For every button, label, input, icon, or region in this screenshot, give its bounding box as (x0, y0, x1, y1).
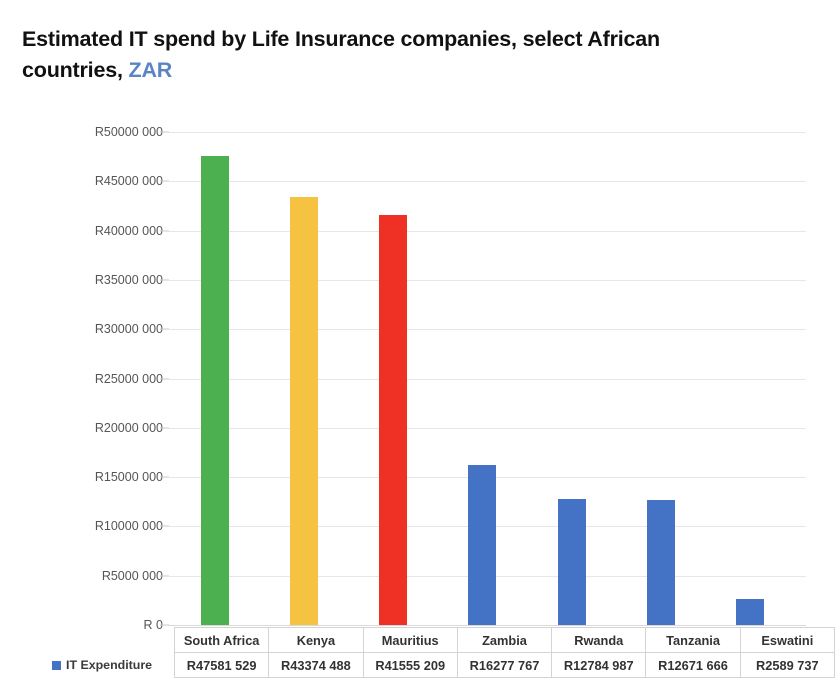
bar-slot (527, 132, 616, 625)
y-axis-tick-label: R50000 000 (13, 125, 163, 139)
table-value-cell: R41555 209 (363, 653, 457, 678)
table-header-cell: Kenya (269, 628, 363, 653)
gridline (168, 625, 806, 626)
bar-slot (170, 132, 259, 625)
y-axis-tick-label: R35000 000 (13, 273, 163, 287)
table-header-cell: Mauritius (363, 628, 457, 653)
bar-kenya[interactable] (290, 197, 318, 625)
bar-slot (349, 132, 438, 625)
table-value-cell: R2589 737 (740, 653, 834, 678)
table-value-cell: R47581 529 (175, 653, 269, 678)
data-table: South AfricaKenyaMauritiusZambiaRwandaTa… (46, 627, 835, 678)
table-header-cell: Zambia (457, 628, 551, 653)
bar-south-africa[interactable] (201, 156, 229, 625)
table-row-values: IT Expenditure R47581 529R43374 488R4155… (46, 653, 834, 678)
y-axis-tick-label: R30000 000 (13, 322, 163, 336)
table-header-cell: Eswatini (740, 628, 834, 653)
bar-chart: R50000 000R45000 000R40000 000R35000 000… (0, 0, 840, 684)
y-axis-tick-label: R25000 000 (13, 372, 163, 386)
y-axis-tick-label: R5000 000 (13, 569, 163, 583)
square-marker-icon (52, 661, 61, 670)
legend-item-it-expenditure: IT Expenditure (46, 653, 175, 678)
table-value-cell: R12671 666 (646, 653, 740, 678)
y-axis-tick-label: R40000 000 (13, 224, 163, 238)
bar-slot (706, 132, 795, 625)
bar-slot (438, 132, 527, 625)
table-value-cell: R12784 987 (552, 653, 646, 678)
bar-slot (259, 132, 348, 625)
legend-label: IT Expenditure (66, 658, 152, 672)
table-value-cell: R43374 488 (269, 653, 363, 678)
bar-tanzania[interactable] (647, 500, 675, 625)
y-axis-tick-label: R20000 000 (13, 421, 163, 435)
bar-mauritius[interactable] (379, 215, 407, 625)
bar-eswatini[interactable] (736, 599, 764, 625)
table-header-cell: South Africa (175, 628, 269, 653)
bar-zambia[interactable] (468, 465, 496, 625)
table-corner-cell (46, 628, 175, 653)
y-axis-tick-label: R10000 000 (13, 519, 163, 533)
table-value-cell: R16277 767 (457, 653, 551, 678)
y-axis-tick-label: R45000 000 (13, 174, 163, 188)
table-header-cell: Rwanda (552, 628, 646, 653)
bar-rwanda[interactable] (558, 499, 586, 625)
table-row-header: South AfricaKenyaMauritiusZambiaRwandaTa… (46, 628, 834, 653)
bar-slot (616, 132, 705, 625)
y-axis-tick-label: R15000 000 (13, 470, 163, 484)
table-header-cell: Tanzania (646, 628, 740, 653)
bar-series-it-expenditure (170, 132, 795, 625)
